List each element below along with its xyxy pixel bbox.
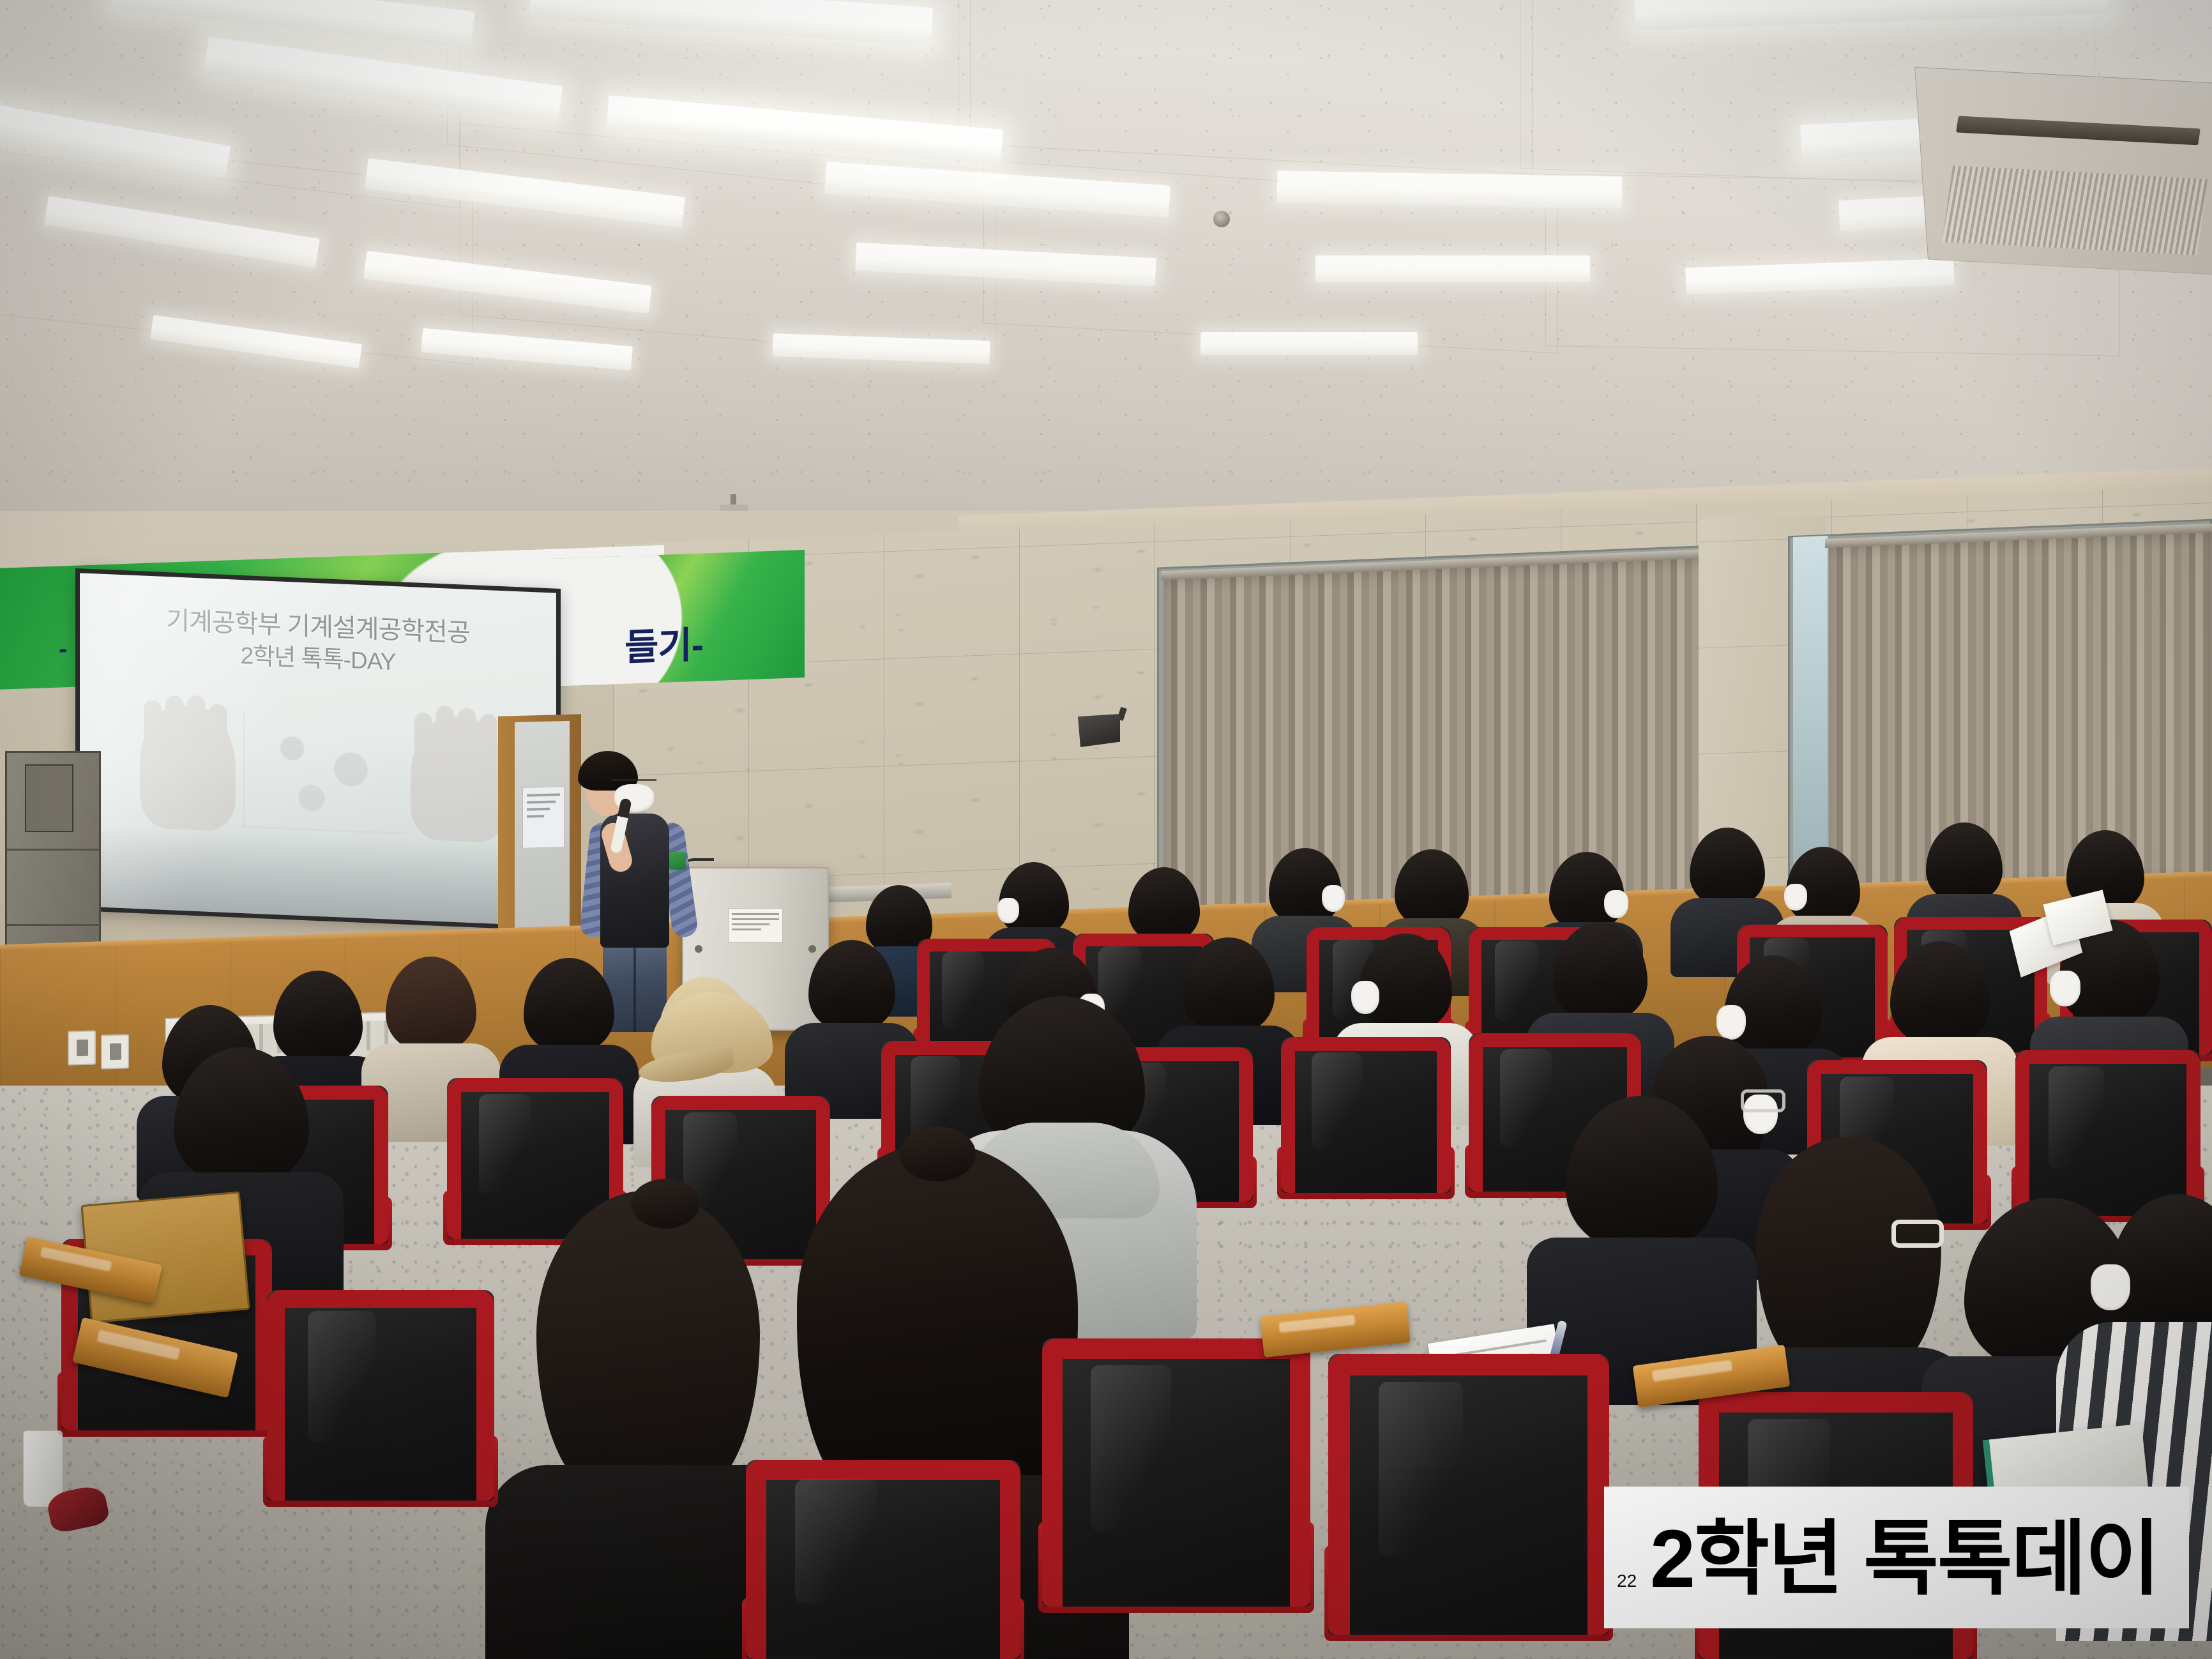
banner-right-text: 들기- — [625, 615, 703, 671]
equipment-label — [728, 908, 783, 943]
window-glass — [1793, 536, 1828, 869]
seat[interactable] — [746, 1460, 1020, 1659]
caption-badge: 22 2학년 톡톡데이 — [1604, 1487, 2189, 1628]
long-hair — [536, 1190, 760, 1490]
lecture-hall-photo: - 들기- 기계공학부 기계설계공학전공 2학년 톡톡-DAY — [0, 0, 2212, 1659]
air-conditioner-icon — [1914, 67, 2212, 276]
eyeglasses-icon — [1741, 1089, 1785, 1112]
sprinkler-icon — [1213, 211, 1230, 227]
audience-member — [1556, 1096, 1728, 1396]
curtain — [1829, 526, 2212, 891]
projection-screen: 기계공학부 기계설계공학전공 2학년 톡톡-DAY — [75, 568, 561, 931]
banner-left-text: - — [59, 635, 66, 663]
audience-member-with-cap — [649, 992, 776, 1139]
ceiling-light — [1277, 170, 1623, 208]
eyeglasses-icon — [1891, 1220, 1944, 1248]
hair-bun — [631, 1179, 700, 1229]
ceiling-light — [1201, 332, 1418, 355]
seat[interactable] — [267, 1290, 494, 1501]
face-mask — [2091, 1264, 2130, 1310]
long-hair — [797, 1143, 1078, 1501]
wall-speaker-icon — [1078, 714, 1120, 747]
seat[interactable] — [2015, 1050, 2201, 1216]
caption-text: 2학년 톡톡데이 — [1620, 1519, 2189, 1600]
ceiling-light — [1315, 255, 1590, 282]
hair-bun — [899, 1126, 976, 1181]
slide-graphic — [135, 697, 511, 850]
slide-title-line2: 2학년 톡톡-DAY — [80, 634, 556, 685]
seat[interactable] — [1281, 1037, 1451, 1193]
audience-member — [524, 1190, 766, 1659]
seat[interactable] — [1328, 1354, 1609, 1635]
power-outlet-icon — [68, 1030, 96, 1065]
slide-title: 기계공학부 기계설계공학전공 2학년 톡톡-DAY — [80, 601, 556, 684]
green-banner-right: 들기- — [549, 550, 805, 686]
door-notice — [522, 786, 564, 849]
seat[interactable] — [1042, 1338, 1310, 1607]
long-hair — [1756, 1137, 1941, 1367]
power-outlet-icon — [101, 1034, 129, 1069]
